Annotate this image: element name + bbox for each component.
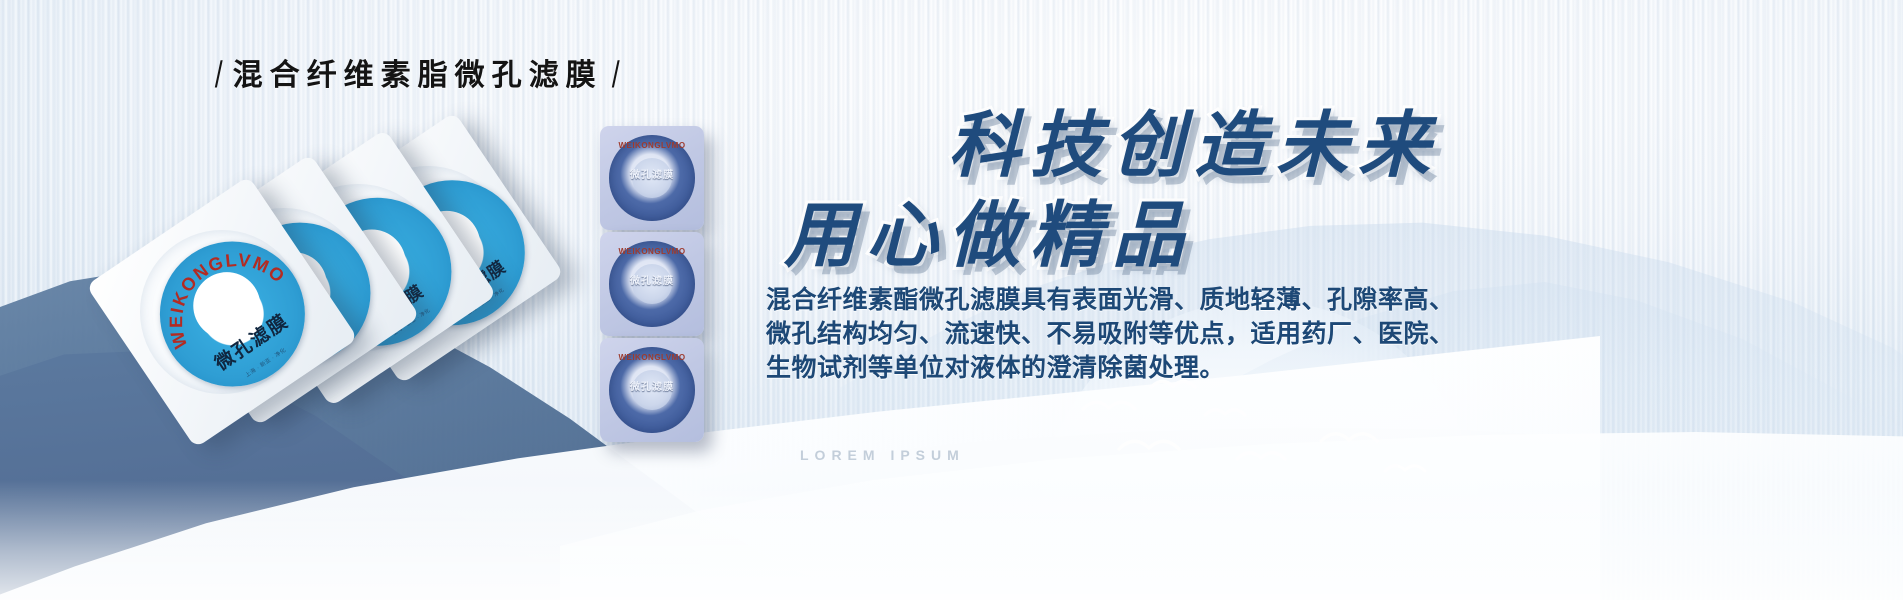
sample-label-english: WEIKONGLVMO (600, 247, 704, 256)
sample-label-english: WEIKONGLVMO (600, 141, 704, 150)
sample-label-chinese: 微孔滤膜 (600, 272, 704, 287)
birds-decoration (1055, 375, 1475, 505)
sample-label-chinese: 微孔滤膜 (600, 166, 704, 181)
product-description: 混合纤维素酯微孔滤膜具有表面光滑、质地轻薄、孔隙率高、微孔结构均匀、流速快、不易… (766, 284, 1456, 386)
product-sample: WEIKONGLVMO 微孔滤膜 (600, 126, 704, 230)
sample-label-chinese: 微孔滤膜 (600, 378, 704, 393)
slogan-line-2: 用心做精品 (784, 176, 1194, 281)
section-title-text: 混合纤维素脂微孔滤膜 (233, 50, 603, 94)
promo-banner: 微孔滤膜 上海 · 新亚 · 净化 孔滤膜 上海 · 新亚 · 净化 滤膜 上海… (0, 0, 1903, 600)
section-title: | 混合纤维素脂微孔滤膜 | (216, 50, 619, 94)
sample-label-english: WEIKONGLVMO (600, 353, 704, 362)
product-sample: WEIKONGLVMO 微孔滤膜 (600, 232, 704, 336)
watermark-text: LOREM IPSUM (800, 447, 965, 463)
background-bottom-fade (0, 480, 1903, 600)
product-sample: WEIKONGLVMO 微孔滤膜 (600, 338, 704, 442)
